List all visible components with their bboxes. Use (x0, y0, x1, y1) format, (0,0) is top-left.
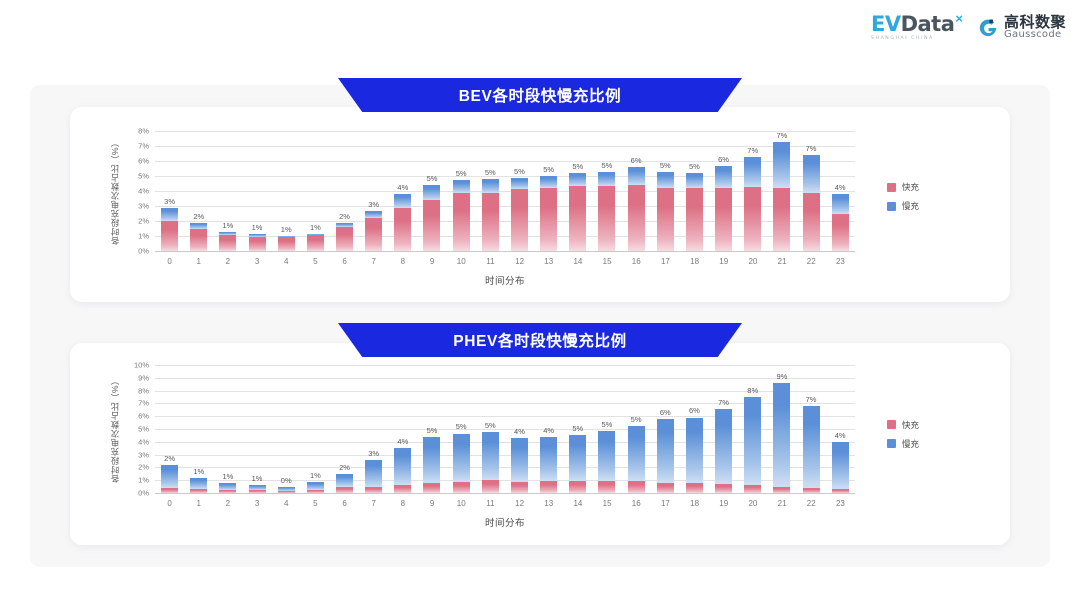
bar-stack[interactable] (161, 208, 178, 252)
evdata-logo-subtitle: SHANGHAI CHINA (871, 37, 934, 42)
bar-value-label: 2% (339, 212, 350, 221)
bar-stack[interactable] (803, 155, 820, 251)
bar-column[interactable]: 4% (388, 131, 417, 251)
x-tick-label: 5 (313, 499, 317, 508)
bar-column[interactable]: 5% (447, 131, 476, 251)
bar-segment-fast-charge[interactable] (219, 235, 236, 252)
legend-swatch-icon (887, 439, 896, 448)
bar-column[interactable]: 1% (184, 365, 213, 493)
bar-segment-slow-charge[interactable] (161, 465, 178, 488)
bar-column[interactable]: 5% (476, 131, 505, 251)
bar-column[interactable]: 8% (738, 365, 767, 493)
bar-segment-fast-charge[interactable] (482, 480, 499, 493)
legend-item-fast-charge[interactable]: 快充 (887, 419, 919, 431)
legend-item-fast-charge[interactable]: 快充 (887, 181, 919, 193)
evdata-logo-data: Data (901, 14, 955, 35)
bar-stack[interactable] (569, 435, 586, 493)
bev-gridline (155, 251, 855, 252)
bar-value-label: 6% (689, 406, 700, 415)
bar-value-label: 7% (776, 131, 787, 140)
x-tick-label: 0 (167, 499, 171, 508)
bar-stack[interactable] (773, 383, 790, 493)
gausscode-logo-en: Gausscode (1004, 30, 1066, 41)
bar-segment-slow-charge[interactable] (773, 142, 790, 189)
bar-column[interactable]: 1% (272, 131, 301, 251)
legend-item-slow-charge[interactable]: 慢充 (887, 438, 919, 450)
legend-swatch-icon (887, 202, 896, 211)
bar-stack[interactable] (219, 483, 236, 493)
bar-segment-slow-charge[interactable] (453, 180, 470, 194)
bar-segment-slow-charge[interactable] (832, 442, 849, 489)
bar-segment-fast-charge[interactable] (278, 491, 295, 493)
bar-column[interactable]: 5% (592, 131, 621, 251)
x-tick-label: 3 (255, 257, 259, 266)
x-tick-label: 23 (836, 257, 845, 266)
x-tick-label: 20 (748, 499, 757, 508)
x-tick-label: 12 (515, 257, 524, 266)
bar-stack[interactable] (278, 487, 295, 493)
bar-column[interactable]: 6% (680, 365, 709, 493)
phev-chart-panel: 各时段充电次数占比（%）0%1%2%3%4%5%6%7%8%9%10%2%1%1… (70, 343, 1010, 545)
bar-stack[interactable] (336, 223, 353, 252)
gausscode-logo-cn: 高科数聚 (1004, 15, 1066, 31)
x-tick-label: 9 (430, 499, 434, 508)
bar-column[interactable]: 5% (417, 365, 446, 493)
bar-segment-fast-charge[interactable] (715, 188, 732, 251)
x-tick-label: 2 (226, 499, 230, 508)
x-tick-label: 18 (690, 257, 699, 266)
bar-stack[interactable] (803, 406, 820, 493)
bev-legend: 快充慢充 (887, 181, 919, 212)
bar-stack[interactable] (278, 236, 295, 251)
bev-y-tick: 7% (125, 142, 149, 151)
bar-stack[interactable] (715, 409, 732, 493)
legend-swatch-icon (887, 183, 896, 192)
bar-value-label: 4% (835, 183, 846, 192)
bar-value-label: 3% (368, 449, 379, 458)
bev-y-tick: 5% (125, 172, 149, 181)
bev-y-tick: 0% (125, 247, 149, 256)
bar-value-label: 1% (193, 467, 204, 476)
bar-segment-slow-charge[interactable] (511, 178, 528, 189)
logo-group: EV Data × SHANGHAI CHINA 高科数聚 Gausscode (871, 14, 1066, 42)
bar-segment-fast-charge[interactable] (628, 481, 645, 493)
bar-segment-fast-charge[interactable] (686, 188, 703, 251)
bar-stack[interactable] (336, 474, 353, 493)
x-tick-label: 20 (748, 257, 757, 266)
bar-segment-slow-charge[interactable] (686, 418, 703, 483)
page-header: EV Data × SHANGHAI CHINA 高科数聚 Gausscode (0, 0, 1080, 62)
bar-stack[interactable] (219, 232, 236, 252)
bar-stack[interactable] (394, 448, 411, 493)
bar-column[interactable]: 2% (155, 365, 184, 493)
bar-stack[interactable] (190, 223, 207, 251)
x-tick-label: 3 (255, 499, 259, 508)
bar-segment-fast-charge[interactable] (540, 481, 557, 493)
bar-segment-slow-charge[interactable] (628, 167, 645, 185)
bar-stack[interactable] (598, 172, 615, 252)
bar-column[interactable]: 5% (563, 365, 592, 493)
bev-y-tick: 2% (125, 217, 149, 226)
bar-column[interactable]: 7% (709, 365, 738, 493)
x-tick-label: 16 (632, 257, 641, 266)
bar-segment-fast-charge[interactable] (394, 208, 411, 251)
phev-y-tick: 7% (125, 399, 149, 408)
bar-value-label: 5% (660, 161, 671, 170)
bar-stack[interactable] (365, 460, 382, 493)
bar-column[interactable]: 2% (184, 131, 213, 251)
x-tick-label: 21 (778, 257, 787, 266)
bar-segment-slow-charge[interactable] (482, 179, 499, 193)
bar-value-label: 2% (164, 454, 175, 463)
x-tick-label: 14 (573, 499, 582, 508)
phev-y-tick: 8% (125, 386, 149, 395)
x-tick-label: 23 (836, 499, 845, 508)
bar-segment-fast-charge[interactable] (482, 193, 499, 252)
bar-segment-slow-charge[interactable] (569, 173, 586, 186)
bar-column[interactable]: 3% (359, 131, 388, 251)
bar-segment-slow-charge[interactable] (598, 431, 615, 481)
bar-value-label: 4% (514, 427, 525, 436)
bar-segment-slow-charge[interactable] (773, 383, 790, 487)
evdata-cross-icon: × (955, 12, 963, 25)
bar-segment-fast-charge[interactable] (278, 237, 295, 251)
x-tick-label: 4 (284, 257, 288, 266)
bar-segment-fast-charge[interactable] (511, 189, 528, 251)
bar-segment-slow-charge[interactable] (219, 483, 236, 490)
x-tick-label: 7 (372, 499, 376, 508)
bar-column[interactable]: 4% (388, 365, 417, 493)
bar-stack[interactable] (832, 194, 849, 251)
bar-stack[interactable] (715, 166, 732, 252)
bar-segment-fast-charge[interactable] (803, 488, 820, 493)
bar-segment-slow-charge[interactable] (715, 166, 732, 189)
bar-column[interactable]: 7% (738, 131, 767, 251)
x-tick-label: 2 (226, 257, 230, 266)
bar-column[interactable]: 1% (301, 131, 330, 251)
bar-segment-slow-charge[interactable] (803, 406, 820, 488)
x-tick-label: 8 (401, 257, 405, 266)
bar-segment-slow-charge[interactable] (803, 155, 820, 193)
bar-column[interactable]: 3% (359, 365, 388, 493)
bar-segment-fast-charge[interactable] (628, 185, 645, 251)
bar-segment-fast-charge[interactable] (598, 186, 615, 251)
bar-stack[interactable] (307, 482, 324, 493)
bar-stack[interactable] (307, 234, 324, 251)
bar-segment-fast-charge[interactable] (336, 487, 353, 493)
bar-column[interactable]: 7% (796, 131, 825, 251)
bar-value-label: 6% (718, 155, 729, 164)
bar-stack[interactable] (540, 437, 557, 493)
bar-value-label: 5% (631, 415, 642, 424)
bev-x-axis-label: 时间分布 (155, 273, 855, 287)
bar-value-label: 1% (222, 221, 233, 230)
legend-label: 快充 (902, 181, 919, 193)
bar-stack[interactable] (511, 178, 528, 251)
bar-value-label: 5% (456, 422, 467, 431)
bar-column[interactable]: 6% (651, 365, 680, 493)
bar-stack[interactable] (569, 173, 586, 251)
bar-segment-fast-charge[interactable] (832, 214, 849, 251)
gausscode-logo: 高科数聚 Gausscode (977, 15, 1066, 41)
bar-stack[interactable] (482, 179, 499, 251)
bar-segment-slow-charge[interactable] (540, 176, 557, 188)
bar-column[interactable]: 5% (417, 131, 446, 251)
phev-y-tick: 6% (125, 412, 149, 421)
bar-segment-fast-charge[interactable] (307, 235, 324, 251)
bar-stack[interactable] (657, 172, 674, 251)
legend-item-slow-charge[interactable]: 慢充 (887, 200, 919, 212)
bar-column[interactable]: 4% (826, 365, 855, 493)
x-tick-label: 4 (284, 499, 288, 508)
bar-stack[interactable] (190, 478, 207, 493)
x-tick-label: 11 (486, 257, 494, 266)
bar-segment-slow-charge[interactable] (744, 157, 761, 188)
bar-segment-fast-charge[interactable] (744, 485, 761, 493)
bar-value-label: 3% (368, 200, 379, 209)
x-tick-label: 17 (661, 499, 670, 508)
bar-segment-fast-charge[interactable] (511, 482, 528, 493)
bar-column[interactable]: 5% (680, 131, 709, 251)
x-tick-label: 10 (457, 499, 466, 508)
bar-column[interactable]: 5% (476, 365, 505, 493)
bev-y-tick: 3% (125, 202, 149, 211)
bar-segment-fast-charge[interactable] (365, 218, 382, 251)
bar-stack[interactable] (686, 418, 703, 494)
gausscode-wordmark: 高科数聚 Gausscode (1004, 15, 1066, 41)
bar-stack[interactable] (453, 434, 470, 494)
bar-column[interactable]: 4% (826, 131, 855, 251)
bar-segment-slow-charge[interactable] (394, 448, 411, 485)
bar-value-label: 5% (689, 162, 700, 171)
bar-value-label: 3% (164, 197, 175, 206)
bar-segment-slow-charge[interactable] (336, 474, 353, 487)
x-tick-label: 9 (430, 257, 434, 266)
bar-segment-slow-charge[interactable] (715, 409, 732, 484)
phev-plot-area: 各时段充电次数占比（%）0%1%2%3%4%5%6%7%8%9%10%2%1%1… (70, 343, 1010, 545)
bar-column[interactable]: 9% (767, 365, 796, 493)
bar-segment-slow-charge[interactable] (190, 478, 207, 489)
bar-value-label: 5% (602, 161, 613, 170)
x-tick-label: 0 (167, 257, 171, 266)
bar-value-label: 4% (397, 437, 408, 446)
phev-y-tick: 0% (125, 489, 149, 498)
bar-segment-fast-charge[interactable] (365, 487, 382, 493)
bar-value-label: 6% (631, 156, 642, 165)
bar-segment-fast-charge[interactable] (249, 490, 266, 493)
x-tick-label: 6 (342, 499, 346, 508)
bar-segment-fast-charge[interactable] (569, 481, 586, 493)
bar-column[interactable]: 6% (709, 131, 738, 251)
bar-stack[interactable] (394, 194, 411, 251)
x-tick-label: 17 (661, 257, 670, 266)
bar-value-label: 5% (514, 167, 525, 176)
bar-column[interactable]: 1% (242, 365, 271, 493)
bar-segment-fast-charge[interactable] (715, 484, 732, 493)
bar-segment-fast-charge[interactable] (453, 482, 470, 493)
x-tick-label: 5 (313, 257, 317, 266)
x-tick-label: 18 (690, 499, 699, 508)
bar-segment-fast-charge[interactable] (540, 188, 557, 251)
bar-value-label: 5% (572, 162, 583, 171)
bar-column[interactable]: 1% (213, 131, 242, 251)
x-tick-label: 15 (603, 257, 612, 266)
bar-stack[interactable] (423, 437, 440, 493)
bar-stack[interactable] (482, 432, 499, 493)
x-tick-label: 12 (515, 499, 524, 508)
bar-segment-slow-charge[interactable] (744, 397, 761, 485)
evdata-logo: EV Data × SHANGHAI CHINA (871, 14, 963, 42)
bar-stack[interactable] (657, 419, 674, 493)
x-tick-label: 22 (807, 257, 816, 266)
bar-column[interactable]: 1% (242, 131, 271, 251)
bar-value-label: 7% (747, 146, 758, 155)
bar-value-label: 1% (252, 223, 263, 232)
bar-segment-slow-charge[interactable] (657, 419, 674, 483)
bar-column[interactable]: 5% (534, 131, 563, 251)
bar-value-label: 5% (485, 421, 496, 430)
bar-segment-fast-charge[interactable] (307, 490, 324, 493)
bar-segment-fast-charge[interactable] (773, 188, 790, 251)
bar-segment-fast-charge[interactable] (394, 485, 411, 493)
bar-column[interactable]: 5% (563, 131, 592, 251)
bar-segment-fast-charge[interactable] (423, 200, 440, 251)
bar-segment-fast-charge[interactable] (569, 186, 586, 251)
bar-segment-fast-charge[interactable] (657, 483, 674, 493)
bar-column[interactable]: 0% (272, 365, 301, 493)
bar-stack[interactable] (744, 397, 761, 493)
bar-column[interactable]: 5% (592, 365, 621, 493)
bar-column[interactable]: 2% (330, 131, 359, 251)
bar-segment-slow-charge[interactable] (482, 432, 499, 481)
bar-segment-fast-charge[interactable] (219, 490, 236, 493)
bar-segment-slow-charge[interactable] (569, 435, 586, 481)
bar-stack[interactable] (686, 173, 703, 251)
bar-value-label: 2% (339, 463, 350, 472)
bar-value-label: 4% (835, 431, 846, 440)
bar-stack[interactable] (249, 234, 266, 251)
bar-value-label: 2% (193, 212, 204, 221)
bar-column[interactable]: 5% (447, 365, 476, 493)
bar-segment-slow-charge[interactable] (598, 172, 615, 186)
bar-segment-slow-charge[interactable] (365, 460, 382, 487)
bar-stack[interactable] (511, 438, 528, 493)
bar-stack[interactable] (161, 465, 178, 493)
bev-y-axis-label: 各时段充电次数占比（%） (109, 131, 121, 251)
bar-segment-slow-charge[interactable] (686, 173, 703, 188)
bar-segment-fast-charge[interactable] (598, 481, 615, 493)
bar-column[interactable]: 1% (213, 365, 242, 493)
bar-segment-slow-charge[interactable] (540, 437, 557, 482)
bar-column[interactable]: 2% (330, 365, 359, 493)
bar-stack[interactable] (832, 442, 849, 493)
bar-segment-fast-charge[interactable] (453, 193, 470, 251)
x-tick-label: 14 (573, 257, 582, 266)
bar-stack[interactable] (453, 180, 470, 251)
bar-segment-fast-charge[interactable] (832, 489, 849, 493)
bar-stack[interactable] (249, 485, 266, 493)
bar-segment-fast-charge[interactable] (773, 487, 790, 493)
bar-segment-slow-charge[interactable] (307, 482, 324, 490)
bar-value-label: 5% (427, 174, 438, 183)
bar-column[interactable]: 4% (534, 365, 563, 493)
bar-segment-fast-charge[interactable] (744, 187, 761, 251)
bar-stack[interactable] (365, 211, 382, 252)
phev-y-tick: 5% (125, 425, 149, 434)
bar-segment-fast-charge[interactable] (249, 237, 266, 251)
bar-stack[interactable] (744, 157, 761, 252)
bar-segment-fast-charge[interactable] (686, 483, 703, 493)
evdata-wordmark: EV Data × (871, 14, 963, 35)
bar-column[interactable]: 7% (796, 365, 825, 493)
x-tick-label: 7 (372, 257, 376, 266)
bar-stack[interactable] (423, 185, 440, 251)
bar-segment-fast-charge[interactable] (190, 229, 207, 251)
bar-value-label: 9% (776, 372, 787, 381)
bar-segment-slow-charge[interactable] (365, 211, 382, 219)
legend-label: 快充 (902, 419, 919, 431)
bar-value-label: 1% (281, 225, 292, 234)
bar-segment-slow-charge[interactable] (453, 434, 470, 483)
x-tick-label: 19 (719, 257, 728, 266)
legend-label: 慢充 (902, 200, 919, 212)
bar-segment-fast-charge[interactable] (161, 221, 178, 251)
bar-column[interactable]: 3% (155, 131, 184, 251)
phev-y-axis-label: 各时段充电次数占比（%） (109, 365, 121, 493)
x-tick-label: 16 (632, 499, 641, 508)
bar-segment-fast-charge[interactable] (336, 227, 353, 251)
bar-segment-slow-charge[interactable] (423, 185, 440, 200)
bar-value-label: 8% (747, 386, 758, 395)
bev-y-tick: 6% (125, 157, 149, 166)
x-tick-label: 13 (544, 499, 553, 508)
bar-segment-slow-charge[interactable] (832, 194, 849, 214)
bar-stack[interactable] (628, 167, 645, 251)
bar-segment-slow-charge[interactable] (161, 208, 178, 222)
x-tick-label: 13 (544, 257, 553, 266)
bar-column[interactable]: 1% (301, 365, 330, 493)
bar-segment-slow-charge[interactable] (394, 194, 411, 208)
bar-segment-fast-charge[interactable] (423, 483, 440, 493)
bar-segment-fast-charge[interactable] (190, 489, 207, 493)
bar-segment-slow-charge[interactable] (423, 437, 440, 483)
bar-column[interactable]: 6% (622, 131, 651, 251)
phev-y-tick: 10% (125, 361, 149, 370)
bar-segment-fast-charge[interactable] (657, 188, 674, 251)
bar-stack[interactable] (540, 176, 557, 251)
phev-gridline (155, 493, 855, 494)
bar-stack[interactable] (598, 431, 615, 493)
x-tick-label: 22 (807, 499, 816, 508)
phev-y-tick: 2% (125, 463, 149, 472)
phev-legend: 快充慢充 (887, 419, 919, 450)
bar-stack[interactable] (773, 142, 790, 252)
phev-y-tick: 1% (125, 476, 149, 485)
bar-column[interactable]: 7% (767, 131, 796, 251)
bar-stack[interactable] (628, 426, 645, 493)
bar-segment-slow-charge[interactable] (657, 172, 674, 188)
bar-value-label: 4% (543, 426, 554, 435)
bar-column[interactable]: 5% (651, 131, 680, 251)
bar-segment-slow-charge[interactable] (628, 426, 645, 480)
bar-column[interactable]: 5% (622, 365, 651, 493)
x-tick-label: 21 (778, 499, 787, 508)
bar-segment-fast-charge[interactable] (803, 193, 820, 251)
bar-segment-fast-charge[interactable] (161, 488, 178, 493)
bar-column[interactable]: 4% (505, 365, 534, 493)
bar-column[interactable]: 5% (505, 131, 534, 251)
bar-segment-slow-charge[interactable] (511, 438, 528, 482)
